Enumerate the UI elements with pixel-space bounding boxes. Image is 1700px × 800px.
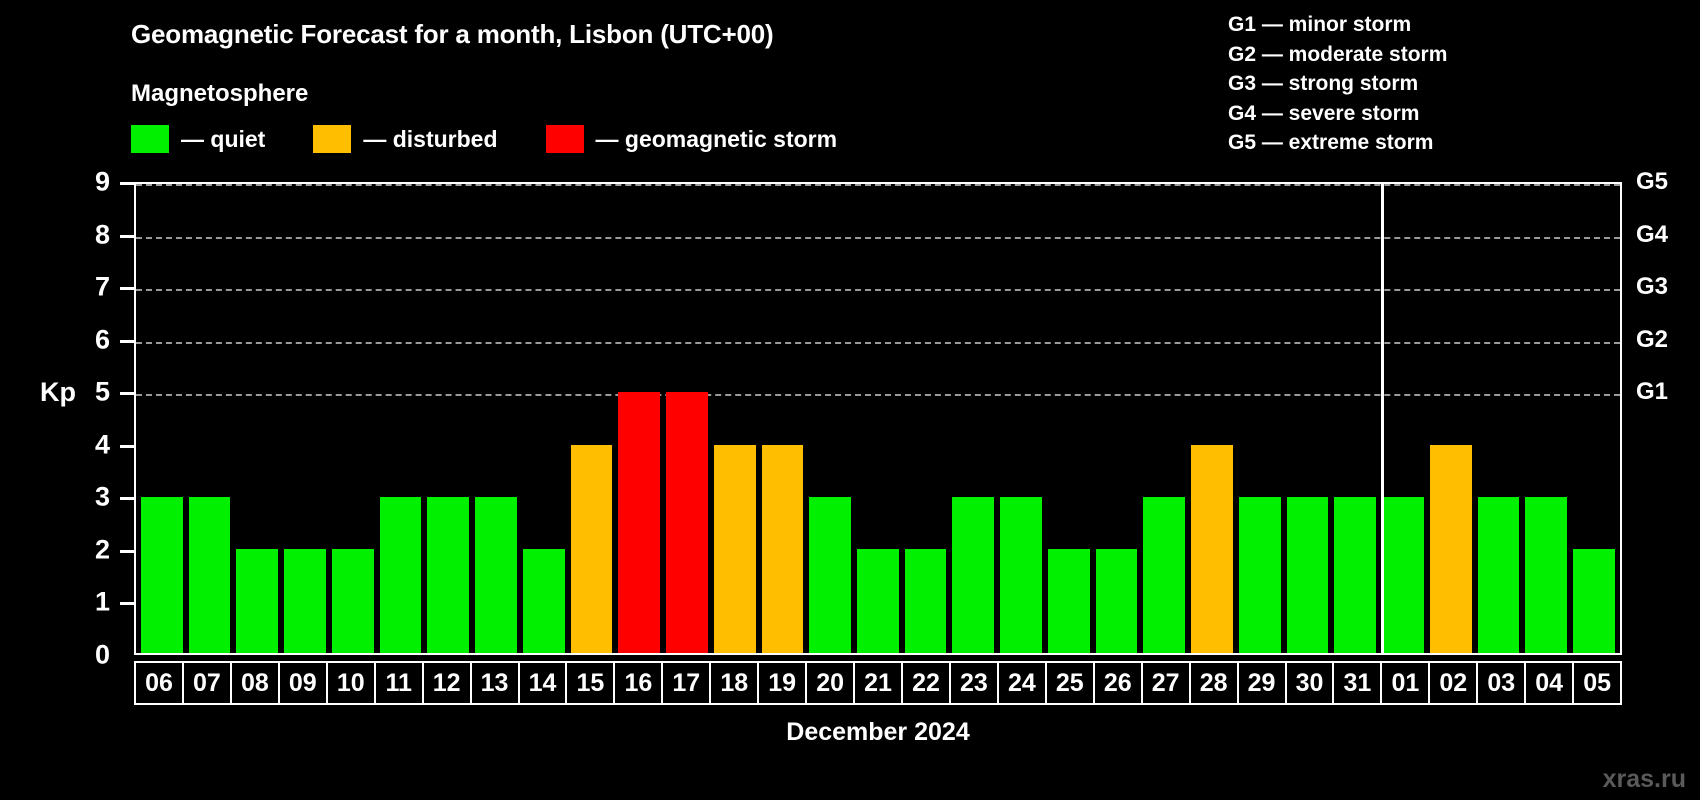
date-label-22: 22: [903, 663, 951, 703]
date-label-26: 26: [1095, 663, 1143, 703]
legend-item-quiet: — quiet: [131, 125, 265, 153]
y-tick-9: 9: [70, 167, 110, 198]
bar-cell: [854, 184, 902, 653]
bar-01: [1382, 497, 1424, 653]
bar-series: [136, 184, 1620, 653]
bar-cell: [424, 184, 472, 653]
bar-25: [1048, 549, 1090, 653]
date-label-24: 24: [999, 663, 1047, 703]
y-tick-5: 5: [70, 377, 110, 408]
y-tickmark-9: [120, 182, 134, 185]
bar-27: [1143, 497, 1185, 653]
legend-item-storm: — geomagnetic storm: [546, 125, 838, 153]
date-label-06: 06: [136, 663, 184, 703]
g-scale-line-2: G2 — moderate storm: [1228, 40, 1447, 70]
bar-12: [427, 497, 469, 653]
bar-16: [618, 392, 660, 653]
y-tick-8: 8: [70, 219, 110, 250]
bar-15: [571, 445, 613, 653]
bar-cell: [1093, 184, 1141, 653]
y-tickmark-2: [120, 550, 134, 553]
bar-cell: [1427, 184, 1475, 653]
date-label-20: 20: [807, 663, 855, 703]
bar-13: [475, 497, 517, 653]
date-label-01: 01: [1382, 663, 1430, 703]
g-tick-G3: G3: [1636, 273, 1668, 301]
bar-cell: [1140, 184, 1188, 653]
bar-cell: [1475, 184, 1523, 653]
bar-cell: [1284, 184, 1332, 653]
bar-cell: [711, 184, 759, 653]
y-tickmark-5: [120, 392, 134, 395]
g-scale-line-3: G3 — strong storm: [1228, 69, 1447, 99]
legend: — quiet— disturbed— geomagnetic storm: [131, 124, 885, 154]
bar-29: [1239, 497, 1281, 653]
month-divider: [1381, 184, 1384, 653]
y-tickmark-1: [120, 602, 134, 605]
legend-label-quiet: — quiet: [181, 126, 265, 153]
date-label-27: 27: [1143, 663, 1191, 703]
bar-31: [1334, 497, 1376, 653]
y-tick-0: 0: [70, 640, 110, 671]
bar-cell: [759, 184, 807, 653]
date-label-30: 30: [1287, 663, 1335, 703]
g-scale-line-5: G5 — extreme storm: [1228, 128, 1447, 158]
bar-cell: [186, 184, 234, 653]
g-tick-G1: G1: [1636, 378, 1668, 406]
y-tick-2: 2: [70, 534, 110, 565]
bar-cell: [472, 184, 520, 653]
bar-11: [380, 497, 422, 653]
date-label-21: 21: [855, 663, 903, 703]
bar-22: [905, 549, 947, 653]
bar-19: [762, 445, 804, 653]
date-label-12: 12: [424, 663, 472, 703]
bar-02: [1430, 445, 1472, 653]
y-tickmark-3: [120, 497, 134, 500]
bar-30: [1287, 497, 1329, 653]
date-label-16: 16: [615, 663, 663, 703]
g-scale-legend: G1 — minor stormG2 — moderate stormG3 — …: [1228, 10, 1447, 158]
chart-caption: December 2024: [134, 718, 1622, 747]
date-label-25: 25: [1047, 663, 1095, 703]
bar-03: [1478, 497, 1520, 653]
date-label-17: 17: [663, 663, 711, 703]
bar-14: [523, 549, 565, 653]
bar-28: [1191, 445, 1233, 653]
bar-cell: [949, 184, 997, 653]
date-axis: 0607080910111213141516171819202122232425…: [134, 661, 1622, 705]
y-tickmark-4: [120, 445, 134, 448]
legend-label-storm: — geomagnetic storm: [596, 126, 838, 153]
bar-05: [1573, 549, 1615, 653]
y-tick-4: 4: [70, 429, 110, 460]
g-tick-G5: G5: [1636, 168, 1668, 196]
date-label-05: 05: [1574, 663, 1620, 703]
bar-cell: [1236, 184, 1284, 653]
y-tick-7: 7: [70, 272, 110, 303]
bar-08: [236, 549, 278, 653]
bar-21: [857, 549, 899, 653]
date-label-07: 07: [184, 663, 232, 703]
bar-cell: [233, 184, 281, 653]
bar-17: [666, 392, 708, 653]
y-tick-6: 6: [70, 324, 110, 355]
bar-18: [714, 445, 756, 653]
date-label-18: 18: [711, 663, 759, 703]
date-label-14: 14: [520, 663, 568, 703]
bar-cell: [1045, 184, 1093, 653]
legend-item-disturbed: — disturbed: [313, 125, 497, 153]
bar-cell: [902, 184, 950, 653]
bar-cell: [1522, 184, 1570, 653]
date-label-08: 08: [232, 663, 280, 703]
watermark: xras.ru: [1603, 765, 1686, 794]
bar-cell: [329, 184, 377, 653]
date-label-03: 03: [1478, 663, 1526, 703]
date-label-10: 10: [328, 663, 376, 703]
g-tick-G2: G2: [1636, 326, 1668, 354]
geomagnetic-forecast-chart: Geomagnetic Forecast for a month, Lisbon…: [0, 0, 1700, 800]
date-label-04: 04: [1526, 663, 1574, 703]
bar-23: [952, 497, 994, 653]
bar-cell: [1379, 184, 1427, 653]
bar-cell: [281, 184, 329, 653]
date-label-28: 28: [1191, 663, 1239, 703]
bar-cell: [663, 184, 711, 653]
bar-cell: [997, 184, 1045, 653]
legend-swatch-storm: [546, 125, 584, 153]
g-scale-line-4: G4 — severe storm: [1228, 99, 1447, 129]
date-label-09: 09: [280, 663, 328, 703]
bar-20: [809, 497, 851, 653]
date-label-19: 19: [759, 663, 807, 703]
y-tick-3: 3: [70, 482, 110, 513]
g-tick-G4: G4: [1636, 221, 1668, 249]
date-label-31: 31: [1334, 663, 1382, 703]
date-label-11: 11: [376, 663, 424, 703]
date-label-02: 02: [1430, 663, 1478, 703]
y-tick-1: 1: [70, 587, 110, 618]
y-tickmark-7: [120, 287, 134, 290]
bar-cell: [1188, 184, 1236, 653]
bar-cell: [615, 184, 663, 653]
plot-area: [134, 182, 1622, 655]
bar-10: [332, 549, 374, 653]
bar-cell: [138, 184, 186, 653]
date-label-23: 23: [951, 663, 999, 703]
bar-06: [141, 497, 183, 653]
bar-26: [1096, 549, 1138, 653]
y-tickmark-6: [120, 340, 134, 343]
bar-cell: [377, 184, 425, 653]
bar-09: [284, 549, 326, 653]
y-tickmark-8: [120, 235, 134, 238]
legend-label-disturbed: — disturbed: [363, 126, 497, 153]
page-title: Geomagnetic Forecast for a month, Lisbon…: [131, 19, 773, 50]
bar-24: [1000, 497, 1042, 653]
date-label-29: 29: [1239, 663, 1287, 703]
bar-cell: [520, 184, 568, 653]
legend-swatch-disturbed: [313, 125, 351, 153]
bar-04: [1525, 497, 1567, 653]
bar-cell: [568, 184, 616, 653]
bar-cell: [1570, 184, 1618, 653]
date-label-15: 15: [567, 663, 615, 703]
g-scale-line-1: G1 — minor storm: [1228, 10, 1447, 40]
magnetosphere-label: Magnetosphere: [131, 80, 308, 108]
bar-07: [189, 497, 231, 653]
bar-cell: [806, 184, 854, 653]
legend-swatch-quiet: [131, 125, 169, 153]
bar-cell: [1331, 184, 1379, 653]
date-label-13: 13: [472, 663, 520, 703]
